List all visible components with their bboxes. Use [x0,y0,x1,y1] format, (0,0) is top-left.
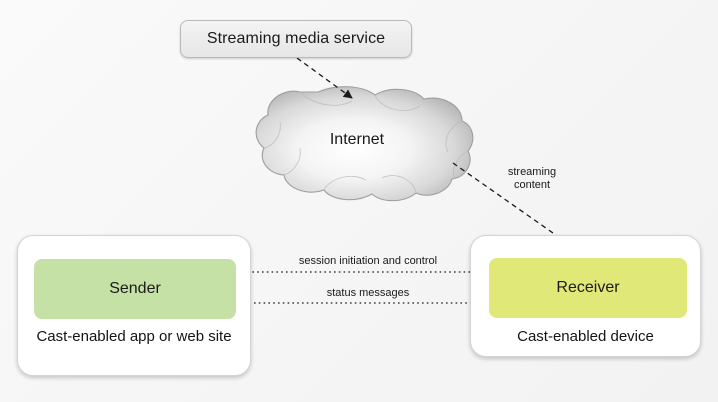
receiver-role-label: Receiver [556,279,619,297]
sender-role-chip: Sender [34,259,236,319]
receiver-node[interactable]: Receiver Cast-enabled device [470,235,701,357]
sender-role-label: Sender [109,280,161,298]
streaming-media-service-label: Streaming media service [207,30,385,48]
status-messages-label: status messages [268,287,468,300]
internet-cloud-label: Internet [243,131,471,149]
session-initiation-label: session initiation and control [268,255,468,268]
receiver-caption: Cast-enabled device [471,326,700,347]
sender-caption: Cast-enabled app or web site [18,326,250,347]
streaming-media-service-node[interactable]: Streaming media service [180,20,412,58]
streaming-content-label: streaming content [487,166,577,192]
receiver-role-chip: Receiver [489,258,687,318]
diagram-canvas: Streaming media service Internet Sender … [0,0,718,402]
sender-node[interactable]: Sender Cast-enabled app or web site [17,235,251,376]
